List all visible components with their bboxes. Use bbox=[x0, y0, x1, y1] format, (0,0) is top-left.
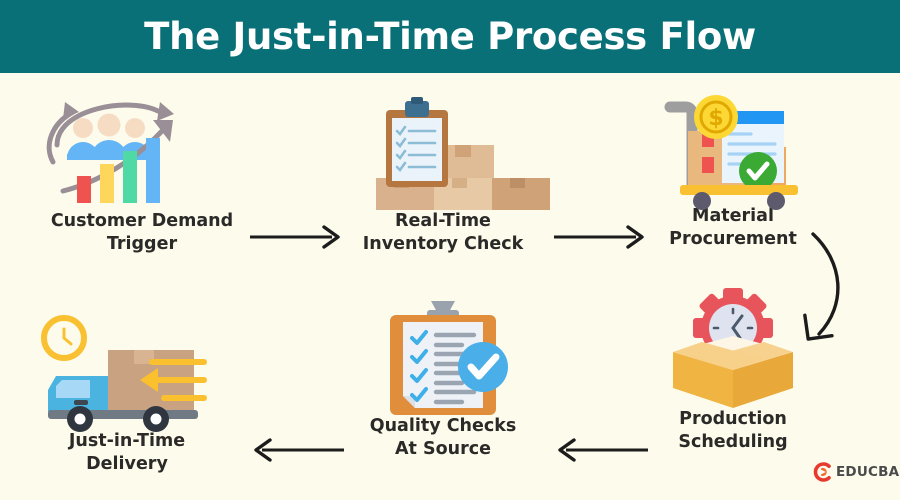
arrow-demand-to-inventory bbox=[248, 222, 348, 252]
educba-mark-icon bbox=[812, 462, 832, 482]
clipboard-boxes-icon bbox=[328, 90, 558, 210]
step-customer-demand-trigger: Customer Demand Trigger bbox=[27, 90, 257, 257]
delivery-truck-clock-icon bbox=[12, 310, 242, 430]
educba-logo-text: EDUCBA bbox=[836, 464, 899, 480]
arrow-inventory-to-procurement bbox=[552, 222, 652, 252]
step-just-in-time-delivery: Just-in-Time Delivery bbox=[12, 310, 242, 477]
hand-truck-invoice-icon: $ bbox=[618, 85, 848, 205]
arrow-procurement-to-production bbox=[795, 222, 865, 352]
clipboard-checklist-verified-icon bbox=[328, 295, 558, 415]
svg-text:$: $ bbox=[708, 106, 723, 131]
step-label: Production Scheduling bbox=[618, 408, 848, 455]
educba-logo[interactable]: EDUCBA bbox=[812, 462, 899, 482]
step-label: Just-in-Time Delivery bbox=[12, 430, 242, 477]
step-label: Real-Time Inventory Check bbox=[328, 210, 558, 257]
arrow-production-to-quality bbox=[552, 435, 652, 465]
people-growth-chart-icon bbox=[27, 90, 257, 210]
step-real-time-inventory-check: Real-Time Inventory Check bbox=[328, 90, 558, 257]
step-label: Quality Checks At Source bbox=[328, 415, 558, 462]
header-banner: The Just-in-Time Process Flow bbox=[0, 0, 900, 73]
page-title: The Just-in-Time Process Flow bbox=[144, 15, 756, 58]
step-label: Customer Demand Trigger bbox=[27, 210, 257, 257]
infographic-canvas: The Just-in-Time Process Flow bbox=[0, 0, 900, 500]
step-quality-checks-at-source: Quality Checks At Source bbox=[328, 295, 558, 462]
arrow-quality-to-delivery bbox=[248, 435, 348, 465]
